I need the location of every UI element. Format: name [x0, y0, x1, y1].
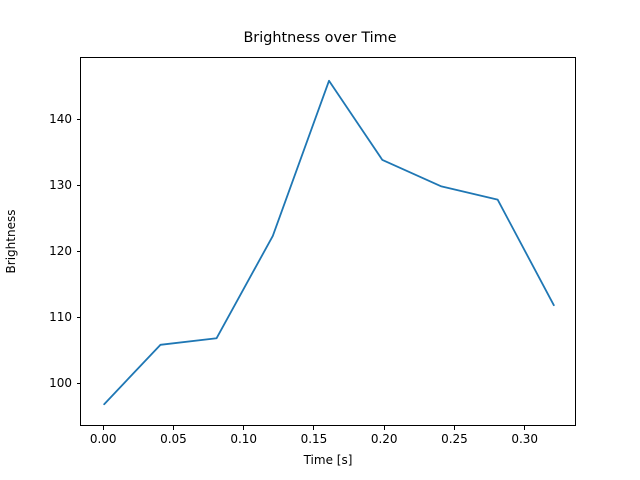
- chart-figure: Brightness over Time 100110120130140 0.0…: [0, 0, 640, 480]
- x-tick-label: 0.25: [424, 432, 484, 446]
- x-axis-label: Time [s]: [80, 453, 576, 467]
- y-axis-label: Brightness: [0, 57, 22, 426]
- chart-title: Brightness over Time: [0, 30, 640, 46]
- line-series-svg: [81, 58, 577, 427]
- plot-area: [80, 57, 576, 426]
- x-tick-label: 0.00: [73, 432, 133, 446]
- series-line-brightness: [104, 81, 554, 404]
- x-tick-label: 0.20: [354, 432, 414, 446]
- x-tick-label: 0.30: [495, 432, 555, 446]
- x-tick-label: 0.10: [214, 432, 274, 446]
- x-tick-label: 0.15: [284, 432, 344, 446]
- x-tick-label: 0.05: [143, 432, 203, 446]
